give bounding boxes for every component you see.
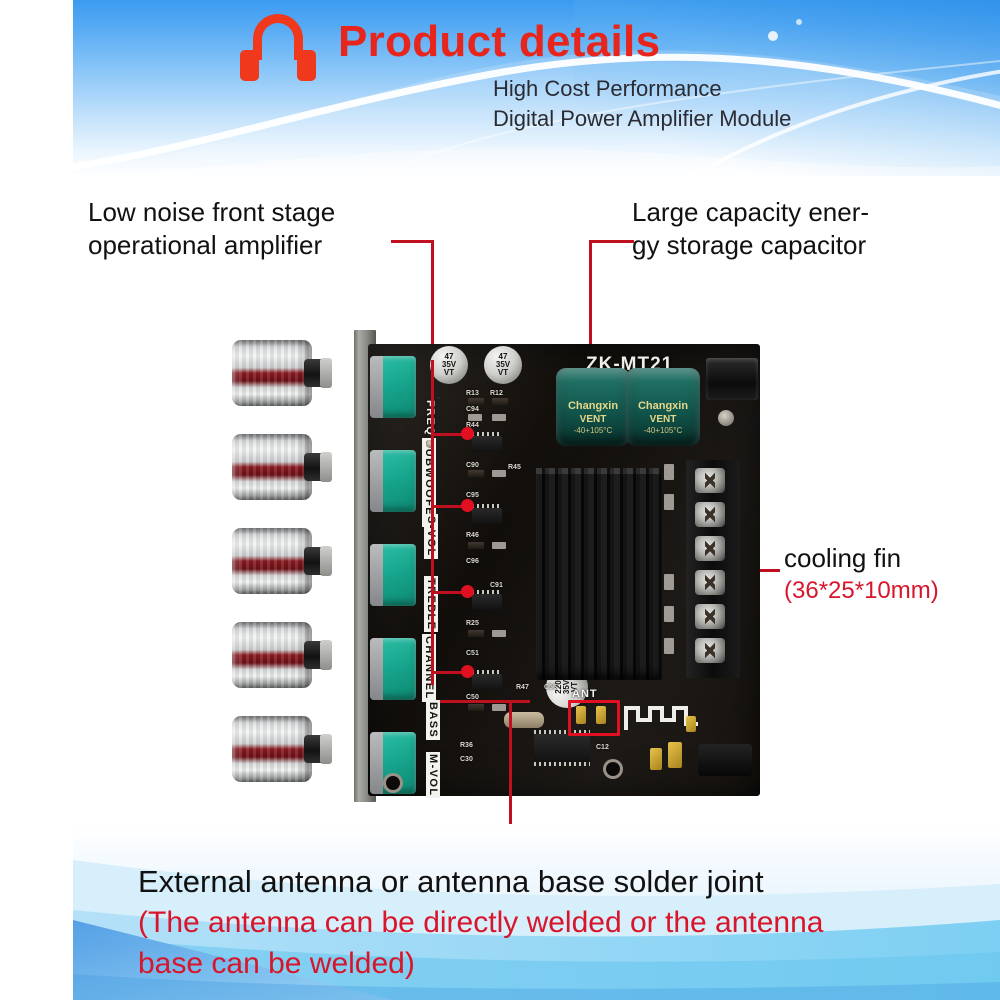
page-title: Product details (338, 17, 660, 67)
leader-antenna-horizontal (440, 700, 530, 703)
knob-body (232, 434, 312, 500)
silkscreen-label-bass: BASS (426, 700, 440, 740)
terminal-screw[interactable] (695, 638, 725, 663)
capacitor-vent: VENT (556, 414, 630, 425)
antenna-caption-line-1: External antenna or antenna base solder … (138, 861, 938, 902)
silkscreen-ref: C94 (466, 406, 479, 413)
capacitor-brand: Changxin (626, 400, 700, 412)
aux-input-jack[interactable] (698, 744, 752, 776)
smd-capacitor (664, 606, 674, 622)
smd-capacitor (468, 414, 482, 421)
pot-shield (370, 450, 383, 512)
silkscreen-ref: R36 (460, 742, 473, 749)
mounting-hole (386, 776, 400, 790)
header-banner: Product details High Cost Performance Di… (73, 0, 1000, 176)
banner-subtitle: High Cost Performance Digital Power Ampl… (493, 74, 953, 134)
smd-capacitor (664, 574, 674, 590)
gold-contact (668, 742, 682, 768)
knob-body (232, 622, 312, 688)
gold-contact (686, 716, 696, 732)
knob-nut (320, 640, 332, 670)
solder-pad (718, 410, 734, 426)
leader-capacitor-horizontal (589, 240, 634, 243)
ic-pins (472, 590, 502, 594)
amplifier-board-photo: FREQ SUBWOOFER S-VOL TREBLE CHANNEL BASS… (232, 330, 760, 810)
callout-capacitor-line-2: gy storage capacitor (632, 229, 869, 262)
capacitor-temp: -40+105°C (556, 426, 630, 435)
volume-knob[interactable] (232, 340, 324, 406)
subtitle-line-1: High Cost Performance (493, 74, 953, 104)
callout-capacitor-line-1: Large capacity ener- (632, 196, 869, 229)
silkscreen-label-freq: FREQ (424, 400, 436, 436)
silkscreen-ref: R25 (466, 620, 479, 627)
ic-pins (472, 432, 502, 436)
heatsink-top-edge (536, 468, 662, 474)
leader-opamp-dot (461, 665, 474, 678)
ic-pins (472, 670, 502, 674)
callout-capacitor-text: Large capacity ener- gy storage capacito… (632, 196, 869, 262)
silkscreen-ref: R46 (466, 532, 479, 539)
knob-nut (320, 546, 332, 576)
callout-opamp-text: Low noise front stage operational amplif… (88, 196, 335, 262)
ecap-code: VT (442, 369, 456, 377)
callout-cooling-fin-label: cooling fin (784, 542, 939, 575)
terminal-screw[interactable] (695, 468, 725, 493)
knob-body (232, 528, 312, 594)
volume-knob[interactable] (232, 528, 324, 594)
operational-amplifier-ic (472, 674, 502, 690)
headphone-earcup-right (297, 50, 316, 81)
pot-shield (370, 732, 383, 794)
knob-nut (320, 358, 332, 388)
knob-nut (320, 452, 332, 482)
electrolytic-capacitor: 47 35V VT (484, 346, 522, 384)
callout-antenna-text: External antenna or antenna base solder … (138, 861, 938, 984)
callout-opamp-line-2: operational amplifier (88, 229, 335, 262)
capacitor-temp: -40+105°C (626, 426, 700, 435)
callout-cooling-fin-dimension: (36*25*10mm) (784, 575, 939, 607)
headphone-earcup-left (240, 50, 259, 81)
speaker-terminal-block[interactable] (686, 460, 740, 678)
leader-opamp-spine (431, 360, 434, 685)
smd-resistor (468, 704, 484, 711)
terminal-screw[interactable] (695, 604, 725, 629)
knob-body (232, 340, 312, 406)
headphones-icon (240, 14, 316, 80)
silkscreen-ref: C56 (544, 684, 557, 691)
dc-power-jack[interactable] (706, 358, 758, 400)
antenna-pad-label: ANT (572, 688, 598, 700)
antenna-caption-line-2: (The antenna can be directly welded or t… (138, 902, 938, 943)
operational-amplifier-ic (472, 594, 502, 610)
operational-amplifier-ic (472, 508, 502, 524)
silkscreen-ref: C91 (490, 582, 503, 589)
leader-opamp-dot (461, 585, 474, 598)
product-detail-page: Product details High Cost Performance Di… (0, 0, 1000, 1000)
silkscreen-ref: C30 (460, 756, 473, 763)
capacitor-vent: VENT (626, 414, 700, 425)
silkscreen-ref: R45 (508, 464, 521, 471)
pot-shield (370, 638, 383, 700)
antenna-solder-pad[interactable] (596, 706, 606, 724)
leader-opamp-dot (461, 499, 474, 512)
pcb-substrate: FREQ SUBWOOFER S-VOL TREBLE CHANNEL BASS… (368, 344, 760, 796)
electrolytic-capacitor: 47 35V VT (430, 346, 468, 384)
smd-capacitor (492, 704, 506, 711)
silkscreen-label-mvol: M-VOL (426, 752, 440, 798)
silkscreen-ref: R12 (490, 390, 503, 397)
pot-shield (370, 544, 383, 606)
callout-cooling-fin-text: cooling fin (36*25*10mm) (784, 542, 939, 607)
antenna-solder-pad[interactable] (576, 706, 586, 724)
terminal-screw[interactable] (695, 570, 725, 595)
volume-knob[interactable] (232, 434, 324, 500)
pot-shield (370, 356, 383, 418)
potentiometer[interactable] (370, 356, 416, 418)
silkscreen-ref: C90 (466, 462, 479, 469)
smd-resistor (492, 398, 508, 405)
ic-pins (534, 762, 590, 766)
silkscreen-ref: R13 (466, 390, 479, 397)
knob-body (232, 716, 312, 782)
storage-capacitor: Changxin VENT -40+105°C (626, 368, 700, 446)
silkscreen-ref: C96 (466, 558, 479, 565)
smd-resistor (468, 470, 484, 477)
silkscreen-ref: C12 (596, 744, 609, 751)
smd-resistor (468, 542, 484, 549)
smd-resistor (468, 630, 484, 637)
bluetooth-soc-ic (534, 734, 590, 762)
knob-ridges (232, 340, 312, 406)
callout-opamp-line-1: Low noise front stage (88, 196, 335, 229)
knob-ridges (232, 528, 312, 594)
terminal-screw[interactable] (695, 502, 725, 527)
silkscreen-ref: R47 (516, 684, 529, 691)
knob-ridges (232, 622, 312, 688)
ecap-code: VT (496, 369, 510, 377)
potentiometer[interactable] (370, 450, 416, 512)
silkscreen-ref: C95 (466, 492, 479, 499)
leader-opamp-dot (461, 427, 474, 440)
leader-opamp-horizontal (391, 240, 434, 243)
volume-knob[interactable] (232, 716, 324, 782)
operational-amplifier-ic (472, 436, 502, 452)
silkscreen-ref: C51 (466, 650, 479, 657)
smd-capacitor (492, 542, 506, 549)
smd-capacitor (664, 638, 674, 654)
potentiometer[interactable] (370, 544, 416, 606)
volume-knob[interactable] (232, 622, 324, 688)
smd-resistor (468, 398, 484, 405)
smd-capacitor (492, 470, 506, 477)
gold-contact (650, 748, 662, 770)
terminal-screw[interactable] (695, 536, 725, 561)
smd-capacitor (492, 414, 506, 421)
knob-nut (320, 734, 332, 764)
mounting-hole (606, 762, 620, 776)
knob-ridges (232, 716, 312, 782)
capacitor-brand: Changxin (556, 400, 630, 412)
subtitle-line-2: Digital Power Amplifier Module (493, 104, 953, 134)
storage-capacitor: Changxin VENT -40+105°C (556, 368, 630, 446)
cooling-fin-heatsink (536, 468, 662, 680)
potentiometer[interactable] (370, 638, 416, 700)
smd-capacitor (492, 630, 506, 637)
smd-capacitor (664, 464, 674, 480)
ic-pins (472, 504, 502, 508)
knob-ridges (232, 434, 312, 500)
headphone-band (253, 14, 303, 60)
smd-capacitor (664, 494, 674, 510)
antenna-caption-line-3: base can be welded) (138, 943, 938, 984)
